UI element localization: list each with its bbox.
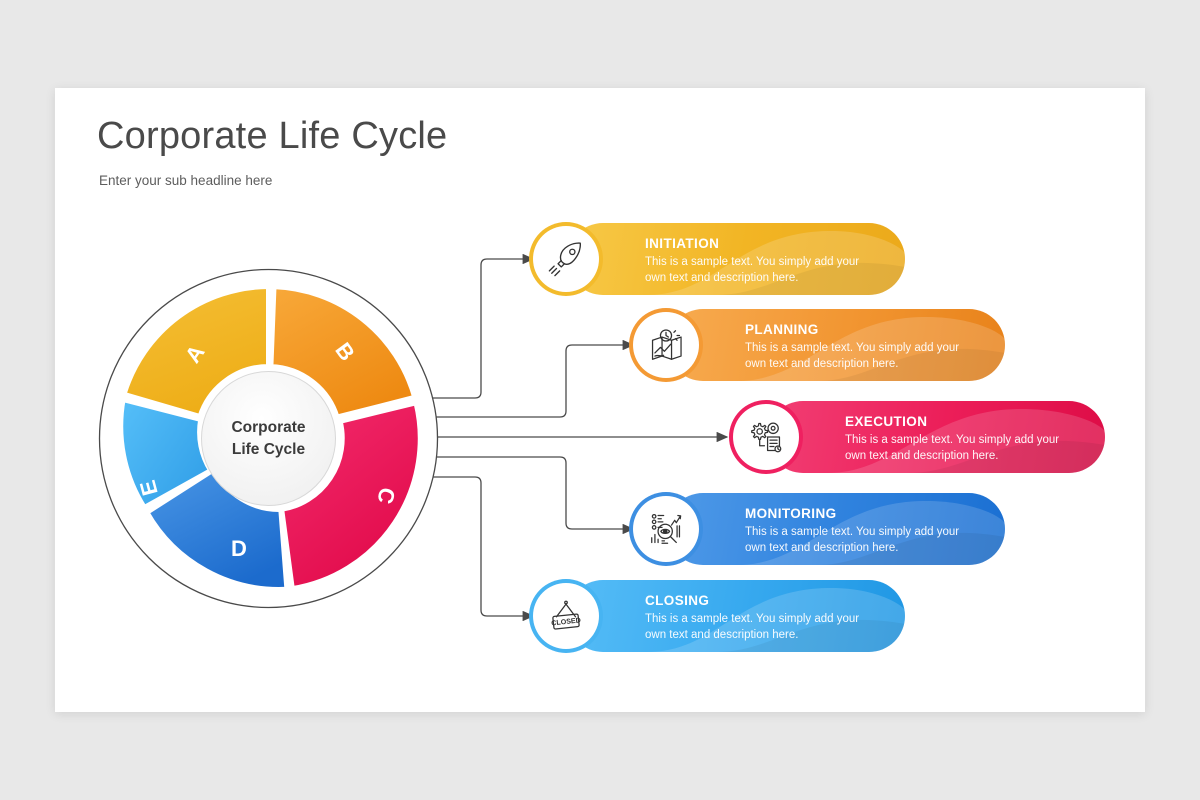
- row-text: CLOSING This is a sample text. You simpl…: [645, 593, 879, 644]
- slide-card: Corporate Life Cycle Enter your sub head…: [55, 88, 1145, 712]
- row-description: This is a sample text. You simply add yo…: [845, 432, 1079, 465]
- row-text: PLANNING This is a sample text. You simp…: [745, 322, 979, 373]
- closed-sign-icon: CLOSED: [533, 583, 599, 649]
- row-initiation[interactable]: INITIATION This is a sample text. You si…: [533, 223, 905, 295]
- row-title: MONITORING: [745, 506, 979, 521]
- wheel-hub: [202, 372, 336, 506]
- gears-document-icon: [733, 404, 799, 470]
- row-title: CLOSING: [645, 593, 879, 608]
- row-description: This is a sample text. You simply add yo…: [745, 340, 979, 373]
- row-title: INITIATION: [645, 236, 879, 251]
- row-description: This is a sample text. You simply add yo…: [645, 611, 879, 644]
- slide-stage: Corporate Life Cycle Enter your sub head…: [0, 0, 1200, 800]
- row-planning[interactable]: PLANNING This is a sample text. You simp…: [633, 309, 1005, 381]
- svg-text:CLOSED: CLOSED: [551, 616, 581, 627]
- row-closing[interactable]: CLOSED CLOSING This is a sample text. Yo…: [533, 580, 905, 652]
- row-description: This is a sample text. You simply add yo…: [645, 254, 879, 287]
- wheel-label-d: D: [231, 536, 247, 561]
- row-text: INITIATION This is a sample text. You si…: [645, 236, 879, 287]
- row-monitoring[interactable]: MONITORING This is a sample text. You si…: [633, 493, 1005, 565]
- row-title: EXECUTION: [845, 414, 1079, 429]
- page-subtitle: Enter your sub headline here: [99, 173, 272, 188]
- life-cycle-wheel[interactable]: A B C D E Corporate Life Cycle: [96, 266, 441, 611]
- page-title: Corporate Life Cycle: [97, 115, 447, 158]
- map-clock-icon: [633, 312, 699, 378]
- row-title: PLANNING: [745, 322, 979, 337]
- row-description: This is a sample text. You simply add yo…: [745, 524, 979, 557]
- row-execution[interactable]: EXECUTION This is a sample text. You sim…: [733, 401, 1105, 473]
- magnifier-eye-chart-icon: [633, 496, 699, 562]
- row-text: MONITORING This is a sample text. You si…: [745, 506, 979, 557]
- row-text: EXECUTION This is a sample text. You sim…: [845, 414, 1079, 465]
- rocket-icon: [533, 226, 599, 292]
